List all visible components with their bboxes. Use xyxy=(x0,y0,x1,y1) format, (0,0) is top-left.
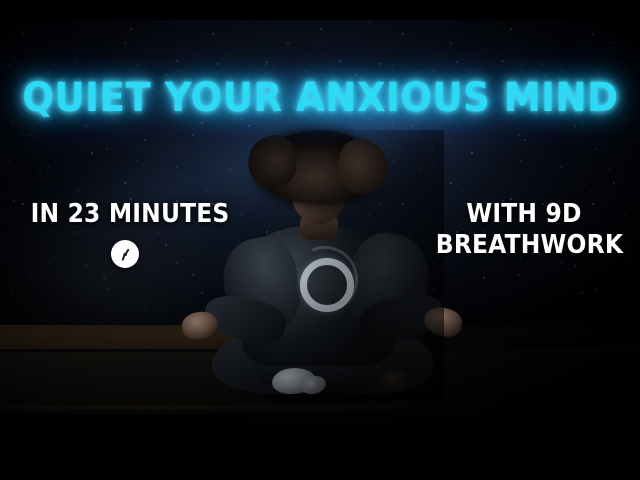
person-hair xyxy=(258,130,376,204)
meditating-person xyxy=(196,130,444,400)
caption-right-line-2: BREATHWORK xyxy=(436,230,612,261)
letterbox-bar-top xyxy=(0,0,640,20)
page-title: QUIET YOUR ANXIOUS MIND xyxy=(22,78,617,118)
shirt-ring-graphic xyxy=(300,258,354,312)
caption-right: WITH 9D BREATHWORK xyxy=(426,199,622,260)
clock-center-pin xyxy=(124,253,127,256)
caption-right-line-1: WITH 9D xyxy=(436,199,612,230)
letterbox-bar-bottom xyxy=(0,430,640,480)
thumbnail-canvas: QUIET YOUR ANXIOUS MIND IN 23 MINUTES WI… xyxy=(0,0,640,480)
person-right-foot xyxy=(380,370,410,390)
caption-left-line-1: IN 23 MINUTES xyxy=(31,199,222,230)
clock-icon xyxy=(111,240,139,268)
caption-left: IN 23 MINUTES xyxy=(20,199,232,230)
